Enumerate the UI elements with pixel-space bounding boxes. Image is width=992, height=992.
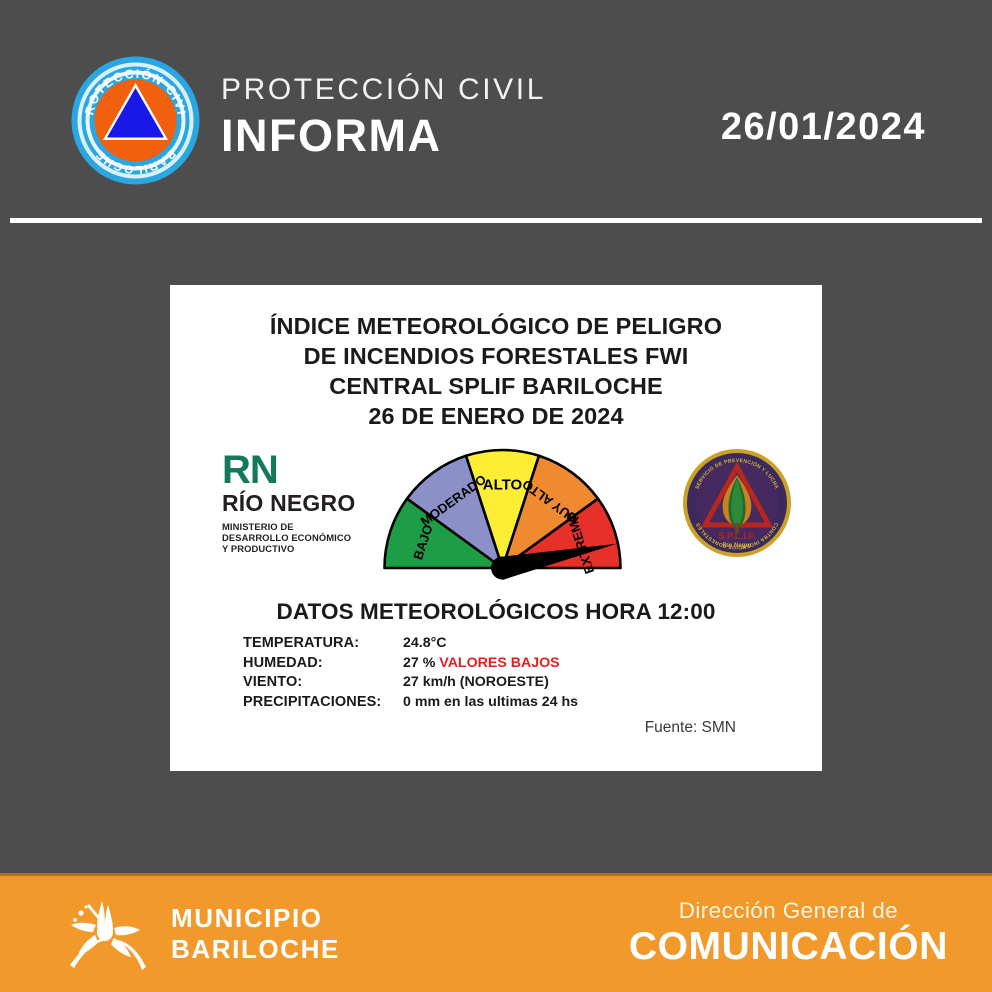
rn-ministry-line-2: DESARROLLO ECONÓMICO (222, 532, 397, 543)
header-banner: PROTECCIÓN CIVIL BARILOCHE PROTECCIÓN CI… (0, 0, 992, 221)
weather-data-row: PRECIPITACIONES:0 mm en las ultimas 24 h… (243, 694, 578, 714)
direccion-general-label: Dirección General de (629, 897, 948, 924)
splif-acronym: S.P.L.I.F. (718, 531, 756, 542)
gauge-needle-hub (491, 557, 514, 580)
footer-banner: MUNICIPIO BARILOCHE Dirección General de… (0, 873, 992, 992)
splif-emblem-icon: SERVICIO DE PREVENCIÓN Y LUCHA CONTRA IN… (679, 445, 795, 561)
fwi-danger-gauge: BAJOMODERADOALTOMUY ALTOEXTREMO (375, 437, 630, 582)
card-title-line-1: ÍNDICE METEOROLÓGICO DE PELIGRO (170, 311, 822, 341)
weather-data-label: VIENTO: (243, 674, 403, 690)
comunicacion-label: COMUNICACIÓN (629, 924, 948, 969)
splif-subtitle: Río Negro (723, 543, 752, 549)
data-source-label: Fuente: SMN (645, 719, 736, 737)
rio-negro-logo: RN RÍO NEGRO MINISTERIO DE DESARROLLO EC… (222, 450, 397, 554)
card-title-line-4: 26 DE ENERO DE 2024 (170, 401, 822, 431)
municipio-line-1: MUNICIPIO (171, 903, 340, 934)
weather-data-label: PRECIPITACIONES: (243, 694, 403, 710)
header-title: INFORMA (221, 110, 546, 162)
municipio-bariloche-logo: MUNICIPIO BARILOCHE (48, 895, 340, 973)
direccion-comunicacion-block: Dirección General de COMUNICACIÓN (629, 897, 948, 969)
humidity-alert-note: VALORES BAJOS (439, 655, 559, 671)
weather-data-row: HUMEDAD:27 % VALORES BAJOS (243, 655, 578, 675)
rn-ministry-line-3: Y PRODUCTIVO (222, 543, 397, 554)
rn-initials: RN (222, 450, 397, 490)
header-subtitle: PROTECCIÓN CIVIL (221, 72, 546, 108)
weather-data-value: 27 km/h (NOROESTE) (403, 674, 549, 690)
weather-data-row: TEMPERATURA:24.8°C (243, 635, 578, 655)
rn-province-label: RÍO NEGRO (222, 491, 397, 516)
card-title: ÍNDICE METEOROLÓGICO DE PELIGRO DE INCEN… (170, 311, 822, 431)
weather-data-value: 27 % VALORES BAJOS (403, 655, 560, 671)
bariloche-flower-icon (48, 895, 163, 973)
weather-data-value: 0 mm en las ultimas 24 hs (403, 694, 578, 710)
proteccion-civil-logo-icon: PROTECCIÓN CIVIL BARILOCHE (71, 56, 200, 185)
card-title-line-3: CENTRAL SPLIF BARILOCHE (170, 371, 822, 401)
weather-data-label: HUMEDAD: (243, 655, 403, 671)
weather-data-heading: DATOS METEOROLÓGICOS HORA 12:00 (170, 599, 822, 625)
rn-ministry-line-1: MINISTERIO DE (222, 521, 397, 532)
card-title-line-2: DE INCENDIOS FORESTALES FWI (170, 341, 822, 371)
weather-data-label: TEMPERATURA: (243, 635, 403, 651)
gauge-row: RN RÍO NEGRO MINISTERIO DE DESARROLLO EC… (170, 445, 822, 580)
footer-separator (0, 873, 992, 876)
fwi-report-card: ÍNDICE METEOROLÓGICO DE PELIGRO DE INCEN… (170, 285, 822, 771)
rn-ministry-label: MINISTERIO DE DESARROLLO ECONÓMICO Y PRO… (222, 521, 397, 554)
gauge-label-alto: ALTO (483, 476, 523, 493)
header-title-block: PROTECCIÓN CIVIL INFORMA (221, 72, 546, 162)
municipio-text: MUNICIPIO BARILOCHE (171, 903, 340, 965)
header-date: 26/01/2024 (721, 106, 926, 149)
weather-data-row: VIENTO:27 km/h (NOROESTE) (243, 674, 578, 694)
weather-data-value: 24.8°C (403, 635, 447, 651)
header-divider (10, 218, 982, 223)
municipio-line-2: BARILOCHE (171, 934, 340, 965)
weather-data-table: TEMPERATURA:24.8°CHUMEDAD:27 % VALORES B… (243, 635, 578, 713)
